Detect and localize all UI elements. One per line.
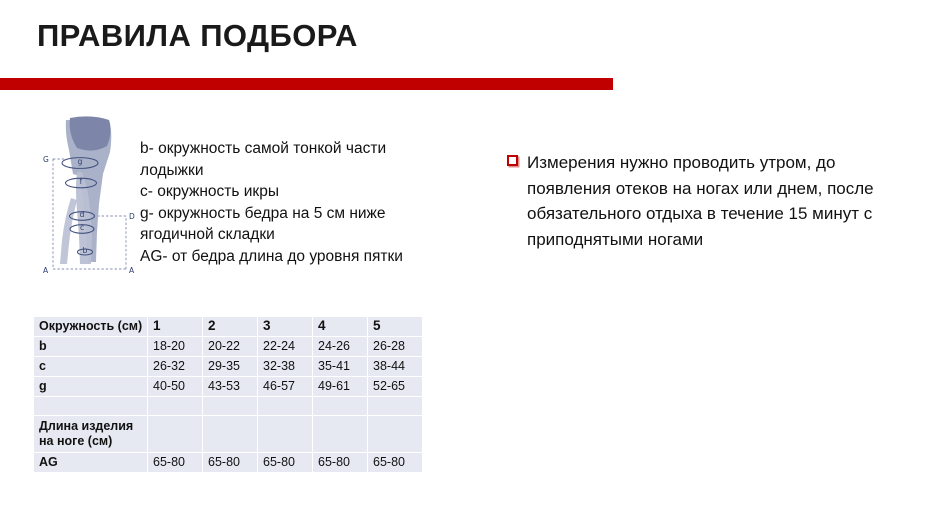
table-cell: 26-32 [148,357,202,376]
table-section-label-line1: Длина изделия [39,419,133,433]
square-bullet-icon [507,155,518,166]
table-row-label: AG [34,453,147,472]
page-title: ПРАВИЛА ПОДБОРА [37,18,358,54]
table-cell: 38-44 [368,357,422,376]
table-cell: 43-53 [203,377,257,396]
leg-measurement-diagram: g f d c b G D A A [33,112,143,292]
table-row-label: c [34,357,147,376]
table-cell: 24-26 [313,337,367,356]
title-accent-rule [0,78,613,90]
legend-line: ягодичной складки [140,224,440,246]
table-row-label: b [34,337,147,356]
table-header-size-3: 3 [258,317,312,336]
table-header-size-4: 4 [313,317,367,336]
diagram-ring-label-g: g [78,157,83,166]
table-cell: 65-80 [148,453,202,472]
table-header-size-5: 5 [368,317,422,336]
table-row: b 18-20 20-22 22-24 24-26 26-28 [34,337,422,356]
table-cell [34,397,147,415]
measurement-note: Измерения нужно проводить утром, до появ… [507,150,907,252]
table-cell [203,397,257,415]
table-cell: 65-80 [203,453,257,472]
table-cell [313,397,367,415]
table-row: AG 65-80 65-80 65-80 65-80 65-80 [34,453,422,472]
table-cell: 49-61 [313,377,367,396]
diagram-axis-label-g: G [43,155,49,164]
diagram-ring-label-f: f [80,177,83,186]
table-cell: 65-80 [313,453,367,472]
table-header-row: Окружность (см) 1 2 3 4 5 [34,317,422,336]
table-cell: 20-22 [203,337,257,356]
table-cell: 18-20 [148,337,202,356]
table-section-row: Длина изделия на ноге (см) [34,416,422,452]
table-cell [258,416,312,452]
legend-line: лодыжки [140,160,440,182]
table-cell: 40-50 [148,377,202,396]
table-cell: 65-80 [258,453,312,472]
table-row: c 26-32 29-35 32-38 35-41 38-44 [34,357,422,376]
legend-line: c- окружность икры [140,181,440,203]
table-cell: 26-28 [368,337,422,356]
table-cell: 22-24 [258,337,312,356]
table-header-label: Окружность (см) [34,317,147,336]
table-cell [148,397,202,415]
legend-line: b- окружность самой тонкой части [140,138,440,160]
table-cell [368,416,422,452]
table-row: g 40-50 43-53 46-57 49-61 52-65 [34,377,422,396]
diagram-axis-label-a-left: A [43,266,49,275]
table-cell: 29-35 [203,357,257,376]
legend-line: AG- от бедра длина до уровня пятки [140,246,440,268]
table-section-label-line2: на ноге (см) [39,434,112,448]
table-row-label: g [34,377,147,396]
table-cell [258,397,312,415]
table-cell [148,416,202,452]
legend-line: g- окружность бедра на 5 см ниже [140,203,440,225]
table-spacer-row [34,397,422,415]
measurement-note-text: Измерения нужно проводить утром, до появ… [527,150,907,252]
diagram-ring-label-d: d [80,210,85,219]
table-cell: 32-38 [258,357,312,376]
table-header-size-1: 1 [148,317,202,336]
diagram-ring-label-c: c [80,223,84,232]
diagram-ring-label-b: b [83,246,88,255]
table-cell [203,416,257,452]
table-cell: 65-80 [368,453,422,472]
table-header-size-2: 2 [203,317,257,336]
diagram-axis-label-d: D [129,212,135,221]
table-cell [313,416,367,452]
table-cell: 52-65 [368,377,422,396]
table-cell: 35-41 [313,357,367,376]
size-chart-table: Окружность (см) 1 2 3 4 5 b 18-20 20-22 … [33,316,423,473]
table-section-label: Длина изделия на ноге (см) [34,416,147,452]
measurement-legend: b- окружность самой тонкой части лодыжки… [140,138,440,267]
table-cell: 46-57 [258,377,312,396]
table-cell [368,397,422,415]
diagram-axis-label-a-right: A [129,266,135,275]
